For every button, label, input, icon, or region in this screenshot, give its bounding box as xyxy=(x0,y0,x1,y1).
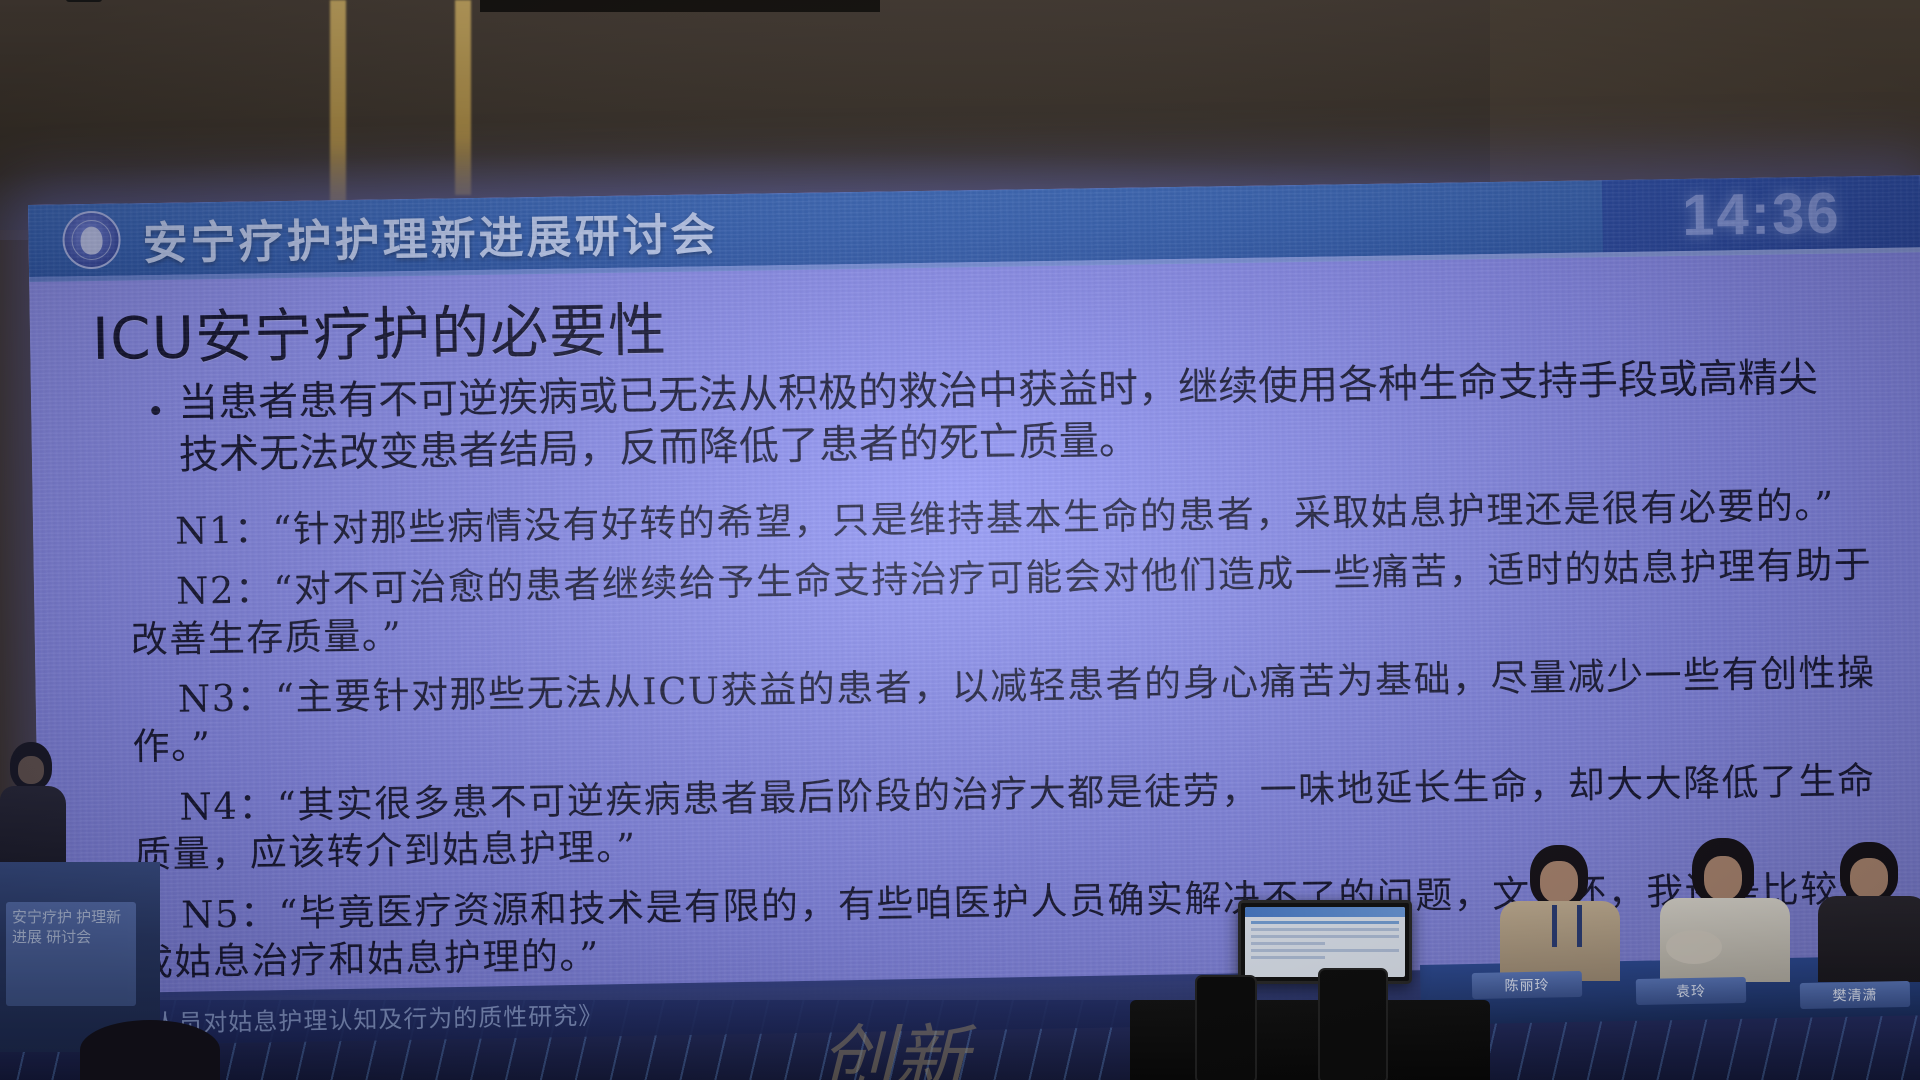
led-projection-screen: 安宁疗护护理新进展研讨会 14:36 ICU安宁疗护的必要性 当患者患有不可逆疾… xyxy=(28,175,1920,1025)
recording-rig xyxy=(1130,1000,1490,1080)
panelist-3-body xyxy=(1818,896,1920,982)
quote-n2: N2：“对不可治愈的患者继续给予生命支持治疗可能会对他们造成一些痛苦，适时的姑息… xyxy=(130,541,1881,663)
laptop-text-line xyxy=(1251,935,1399,938)
bullet-dot-icon xyxy=(151,406,160,415)
phone-right[interactable] xyxy=(1318,968,1388,1080)
laptop-text-line xyxy=(1251,956,1325,959)
panelist-1-lanyard xyxy=(1552,905,1582,947)
laptop-text-line xyxy=(1251,942,1325,945)
slide-title: ICU安宁疗护的必要性 xyxy=(91,283,667,376)
foreground-head-silhouette xyxy=(80,1020,220,1080)
phone-left[interactable] xyxy=(1195,975,1257,1080)
stage-watermark: 创新 xyxy=(820,1000,968,1080)
laptop-text-line xyxy=(1251,921,1399,924)
laptop-text-line xyxy=(1251,928,1399,931)
panelist-1 xyxy=(1500,845,1620,975)
presentation-slide: 安宁疗护护理新进展研讨会 14:36 ICU安宁疗护的必要性 当患者患有不可逆疾… xyxy=(28,175,1920,1025)
speaker-face xyxy=(18,756,44,784)
nameplate-1: 陈丽玲 xyxy=(1472,971,1582,999)
nursing-association-emblem-icon xyxy=(62,211,121,270)
panelist-1-face xyxy=(1540,861,1578,903)
nameplate-2: 袁玲 xyxy=(1636,977,1746,1005)
panelist-2-face xyxy=(1704,856,1742,900)
laptop-text-line xyxy=(1251,949,1399,952)
panelist-3-face xyxy=(1850,858,1888,898)
quote-n4: N4：“其实很多患不可逆疾病患者最后阶段的治疗大都是徒劳，一味地延长生命，却大大… xyxy=(133,757,1884,879)
ceiling-shadow xyxy=(480,0,880,12)
laptop-webcam-icon xyxy=(66,0,102,2)
laptop-titlebar xyxy=(1245,907,1405,917)
laptop-screen xyxy=(1245,907,1405,977)
quote-n3: N3：“主要针对那些无法从ICU获益的患者，以减轻患者的身心痛苦为基础，尽量减少… xyxy=(131,649,1882,771)
bullet-text: 当患者患有不可逆疾病或已无法从积极的救治中获益时，继续使用各种生命支持手段或高精… xyxy=(178,352,1842,482)
bullet-item: 当患者患有不可逆疾病或已无法从积极的救治中获益时，继续使用各种生命支持手段或高精… xyxy=(151,352,1842,483)
panelist-3 xyxy=(1818,842,1920,978)
conference-photo: 安宁疗护护理新进展研讨会 14:36 ICU安宁疗护的必要性 当患者患有不可逆疾… xyxy=(0,0,1920,1080)
podium-sign: 安宁疗护 护理新进展 研讨会 xyxy=(6,902,136,1006)
nameplate-3: 樊清潇 xyxy=(1800,981,1910,1009)
table-microphone xyxy=(1666,930,1722,964)
conference-title: 安宁疗护护理新进展研讨会 xyxy=(142,198,719,272)
quote-list: N1：“针对那些病情没有好转的希望，只是维持基本生命的患者，采取姑息护理还是很有… xyxy=(129,481,1887,1000)
clock-display: 14:36 xyxy=(1602,175,1920,252)
